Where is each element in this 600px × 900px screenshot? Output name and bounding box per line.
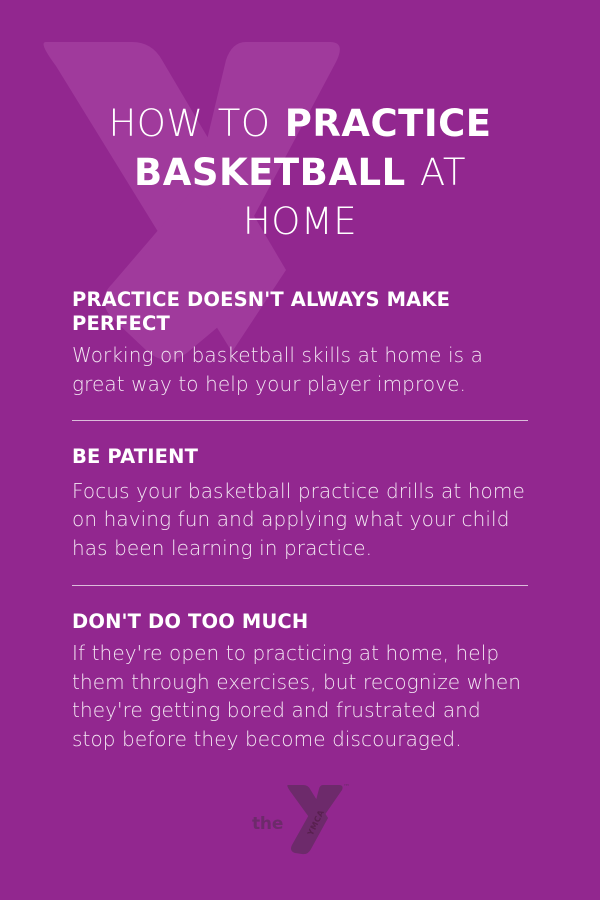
tip-body-2: Focus your basketball practice drills at… (72, 477, 528, 563)
poster-canvas: HOW TO PRACTICE BASKETBALL AT HOME PRACT… (0, 0, 600, 900)
logo-the-text: the (252, 816, 283, 833)
tip-section-3: DON'T DO TOO MUCH If they're open to pra… (72, 610, 528, 754)
tip-section-2: BE PATIENT Focus your basketball practic… (72, 445, 528, 562)
tip-heading-1: PRACTICE DOESN'T ALWAYS MAKE PERFECT (72, 288, 528, 335)
tips-list: PRACTICE DOESN'T ALWAYS MAKE PERFECT Wor… (72, 288, 528, 753)
trademark-icon: ™ (343, 784, 350, 791)
tip-body-3: If they're open to practicing at home, h… (72, 639, 528, 753)
title-line2-bold: BASKETBALL (134, 151, 406, 194)
ymca-logo: the ™ YMCA (0, 780, 600, 860)
tip-heading-2: BE PATIENT (72, 445, 528, 468)
tip-section-1: PRACTICE DOESN'T ALWAYS MAKE PERFECT Wor… (72, 288, 528, 398)
section-divider-1 (72, 420, 528, 421)
title-line1-bold: PRACTICE (285, 102, 492, 145)
section-divider-2 (72, 585, 528, 586)
tip-heading-3: DON'T DO TOO MUCH (72, 610, 528, 633)
ymca-logo-inner: the ™ YMCA (252, 783, 348, 857)
page-title: HOW TO PRACTICE BASKETBALL AT HOME (72, 0, 528, 246)
title-line1-light: HOW TO (108, 102, 284, 145)
tip-body-1: Working on basketball skills at home is … (72, 341, 528, 398)
poster-content: HOW TO PRACTICE BASKETBALL AT HOME PRACT… (0, 0, 600, 900)
